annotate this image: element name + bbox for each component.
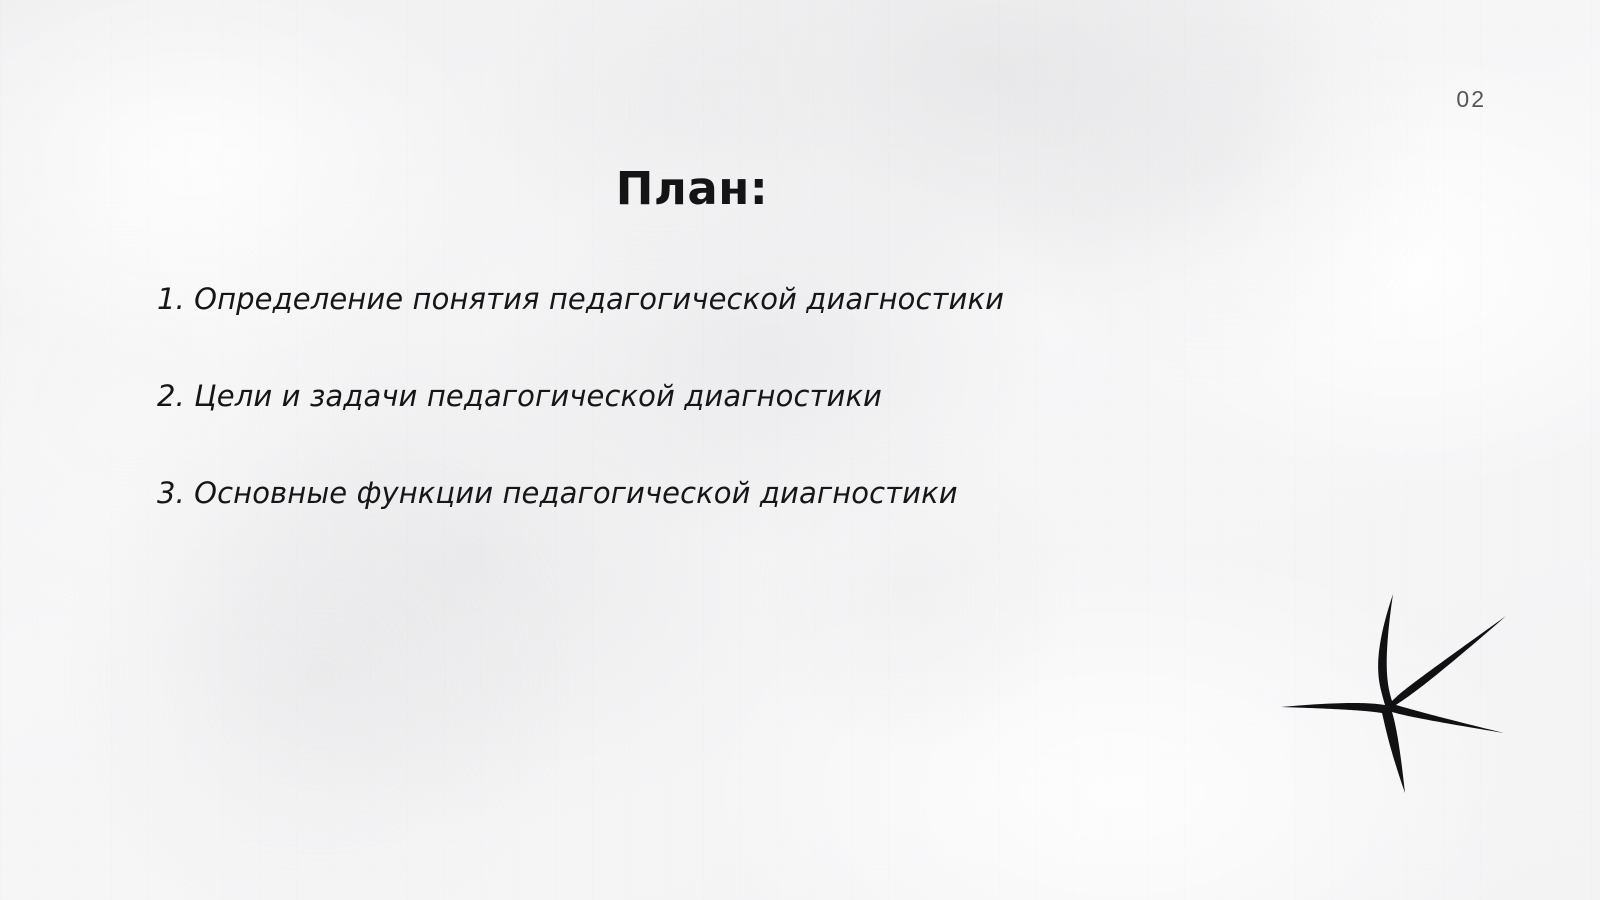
list-item: 2. Цели и задачи педагогической диагност… xyxy=(157,376,1257,473)
page-number: 02 xyxy=(1404,86,1486,113)
plan-list: 1. Определение понятия педагогической ди… xyxy=(157,279,1257,570)
slide-canvas: 02 План: 1. Определение понятия педагоги… xyxy=(0,0,1600,900)
list-item: 3. Основные функции педагогической диагн… xyxy=(157,473,1257,570)
list-item: 1. Определение понятия педагогической ди… xyxy=(157,279,1257,376)
five-point-concave-star-icon xyxy=(1250,575,1520,805)
page-title: План: xyxy=(0,162,1384,215)
